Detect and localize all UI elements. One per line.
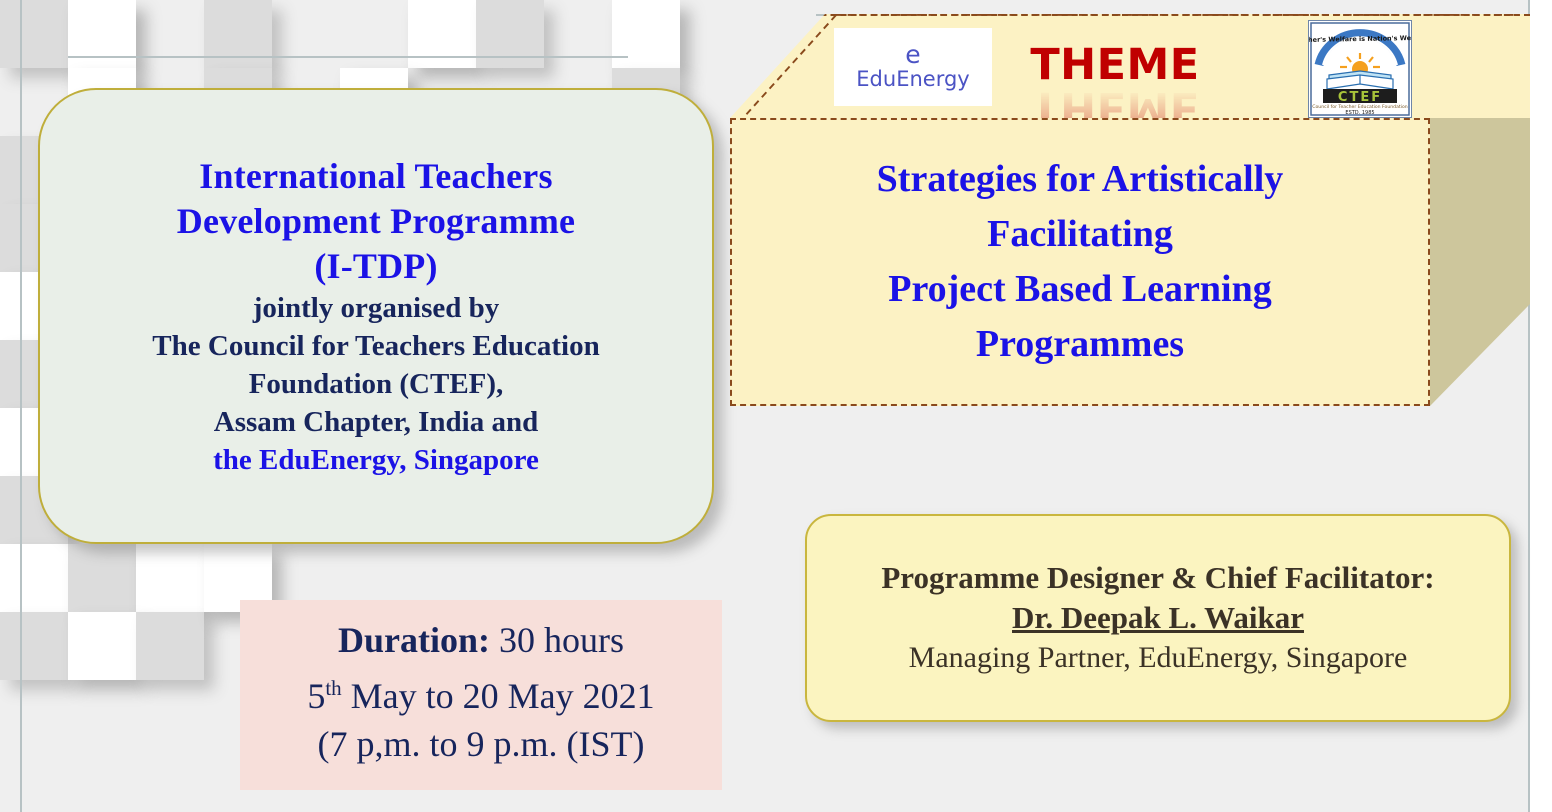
- duration-line-3: (7 p,m. to 9 p.m. (IST): [318, 720, 645, 768]
- slide-canvas: International Teachers Development Progr…: [0, 0, 1552, 812]
- eduenergy-logo-name: EduEnergy: [856, 67, 969, 91]
- duration-date-day: 5: [307, 676, 325, 716]
- theme-label: THEME: [1020, 42, 1210, 116]
- checker-tile: [136, 612, 204, 680]
- organiser-line-2: The Council for Teachers Education: [152, 327, 599, 365]
- right-margin: [1530, 0, 1552, 812]
- eduenergy-logo-mark: e: [905, 43, 920, 67]
- theme-title: Strategies for Artistically Facilitating…: [859, 152, 1302, 372]
- theme-title-line-3: Project Based Learning: [877, 262, 1284, 317]
- organiser-line-4: Assam Chapter, India and: [214, 403, 538, 441]
- duration-panel: Duration: 30 hours 5th May to 20 May 202…: [240, 600, 722, 790]
- checker-tile: [136, 544, 204, 612]
- ctef-logo: Teacher's Welfare is Nation's Welfare CT…: [1308, 20, 1412, 118]
- background-rule-left: [20, 0, 22, 812]
- ctef-logo-graphic: Teacher's Welfare is Nation's Welfare CT…: [1309, 21, 1411, 117]
- facilitator-card: Programme Designer & Chief Facilitator: …: [805, 514, 1511, 722]
- background-rule-top: [68, 56, 628, 58]
- checker-tile: [0, 0, 68, 68]
- facilitator-name: Dr. Deepak L. Waikar: [1012, 598, 1304, 638]
- theme-title-line-1: Strategies for Artistically: [877, 152, 1284, 207]
- theme-title-line-2: Facilitating: [877, 207, 1284, 262]
- checker-tile: [0, 612, 68, 680]
- duration-date-ordinal: th: [325, 676, 341, 700]
- programme-title-line-2: Development Programme: [177, 199, 575, 244]
- duration-line-2: 5th May to 20 May 2021: [307, 664, 654, 720]
- checker-tile: [0, 544, 68, 612]
- checker-tile: [68, 544, 136, 612]
- svg-text:ESTD. 1985: ESTD. 1985: [1345, 110, 1374, 116]
- svg-text:CTEF: CTEF: [1338, 90, 1382, 105]
- eduenergy-logo: e EduEnergy: [834, 28, 992, 106]
- theme-box: e EduEnergy THEME THEME Teacher's Welfar…: [730, 14, 1530, 406]
- duration-label: Duration:: [338, 620, 490, 660]
- duration-hours: 30 hours: [499, 620, 624, 660]
- facilitator-affiliation: Managing Partner, EduEnergy, Singapore: [909, 638, 1408, 678]
- programme-title-line-1: International Teachers: [199, 154, 552, 199]
- programme-title-line-3: (I-TDP): [314, 244, 437, 289]
- organiser-line-3: Foundation (CTEF),: [249, 365, 504, 403]
- duration-line-1: Duration: 30 hours: [338, 616, 624, 664]
- theme-title-line-4: Programmes: [877, 317, 1284, 372]
- organiser-line-5: the EduEnergy, Singapore: [213, 441, 539, 479]
- programme-info-card: International Teachers Development Progr…: [38, 88, 714, 544]
- checker-tile: [68, 612, 136, 680]
- organiser-line-1: jointly organised by: [253, 289, 500, 327]
- facilitator-role: Programme Designer & Chief Facilitator:: [881, 558, 1434, 598]
- theme-box-front-face: Strategies for Artistically Facilitating…: [730, 118, 1430, 406]
- duration-date-rest: May to 20 May 2021: [342, 676, 655, 716]
